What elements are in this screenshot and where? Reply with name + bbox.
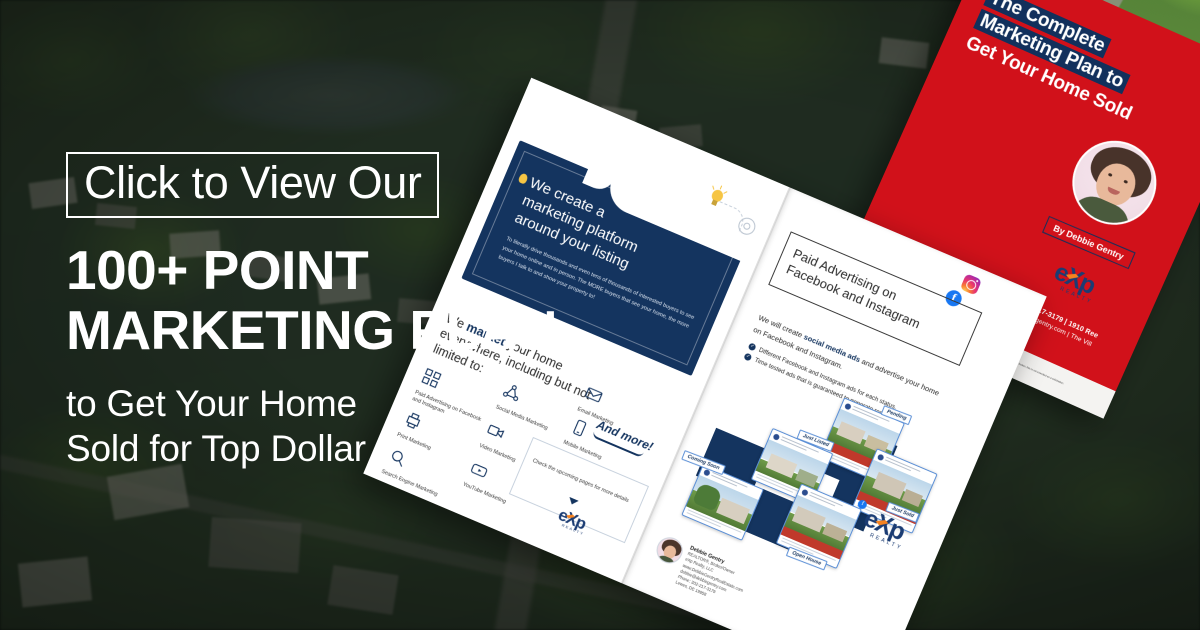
agent-avatar	[653, 533, 687, 567]
subtitle-line2: Sold for Top Dollar	[66, 428, 366, 469]
check-bullet-icon: ✓	[748, 342, 757, 351]
headline-line1: 100+ POINT	[66, 239, 368, 301]
cta-label: Click to View Our	[84, 160, 421, 206]
page-subtitle: to Get Your Home Sold for Top Dollar	[66, 381, 586, 471]
page-title: 100+ POINT MARKETING PLAN	[66, 241, 586, 361]
check-bullet-icon: ✓	[743, 352, 752, 361]
instagram-icon[interactable]	[960, 273, 982, 295]
view-plan-cta[interactable]: Click to View Our	[66, 152, 439, 218]
headline-line2: MARKETING PLAN	[66, 299, 557, 361]
triangle-down-icon	[567, 497, 579, 506]
subtitle-line1: to Get Your Home	[66, 383, 357, 424]
hero-copy: Click to View Our 100+ POINT MARKETING P…	[66, 152, 586, 471]
social-share-card: › › › › The Complete Marketing Plan to G…	[0, 0, 1200, 630]
